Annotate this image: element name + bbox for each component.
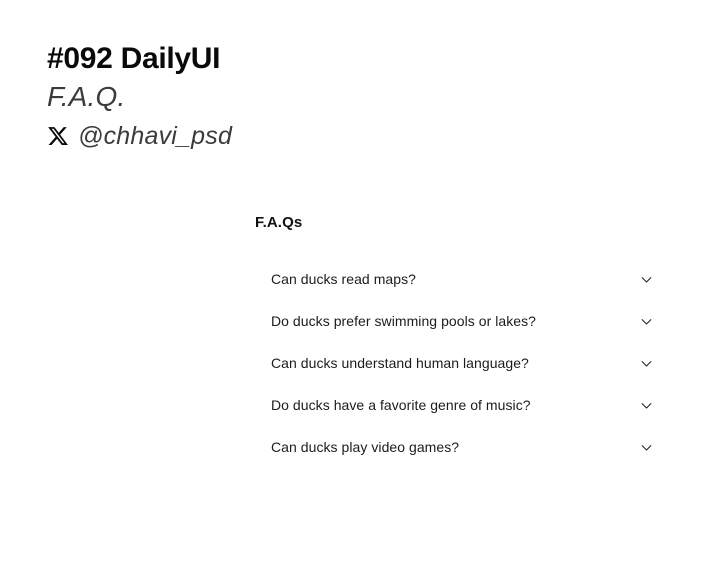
chevron-down-icon[interactable] bbox=[638, 397, 654, 413]
chevron-down-icon[interactable] bbox=[638, 355, 654, 371]
faq-question-label: Can ducks understand human language? bbox=[271, 356, 529, 370]
chevron-down-icon[interactable] bbox=[638, 313, 654, 329]
faq-question-label: Can ducks play video games? bbox=[271, 440, 459, 454]
faq-item[interactable]: Can ducks read maps? bbox=[271, 258, 655, 300]
faq-item[interactable]: Can ducks play video games? bbox=[271, 426, 655, 468]
faq-list: Can ducks read maps? Do ducks prefer swi… bbox=[271, 258, 655, 468]
social-handle-text: @chhavi_psd bbox=[78, 121, 232, 151]
social-handle-row: @chhavi_psd bbox=[47, 121, 447, 151]
page-title: #092 DailyUI bbox=[47, 40, 447, 78]
faq-question-label: Do ducks prefer swimming pools or lakes? bbox=[271, 314, 536, 328]
faq-item[interactable]: Do ducks prefer swimming pools or lakes? bbox=[271, 300, 655, 342]
faq-panel: F.A.Qs Can ducks read maps? Do ducks pre… bbox=[255, 214, 655, 468]
chevron-down-icon[interactable] bbox=[638, 439, 654, 455]
faq-item[interactable]: Do ducks have a favorite genre of music? bbox=[271, 384, 655, 426]
x-twitter-icon bbox=[47, 125, 69, 147]
chevron-down-icon[interactable] bbox=[638, 271, 654, 287]
faq-question-label: Can ducks read maps? bbox=[271, 272, 416, 286]
faq-item[interactable]: Can ducks understand human language? bbox=[271, 342, 655, 384]
branding-block: #092 DailyUI F.A.Q. @chhavi_psd bbox=[47, 40, 447, 151]
page-subtitle: F.A.Q. bbox=[47, 78, 447, 117]
faq-question-label: Do ducks have a favorite genre of music? bbox=[271, 398, 531, 412]
faq-section-heading: F.A.Qs bbox=[255, 214, 655, 231]
